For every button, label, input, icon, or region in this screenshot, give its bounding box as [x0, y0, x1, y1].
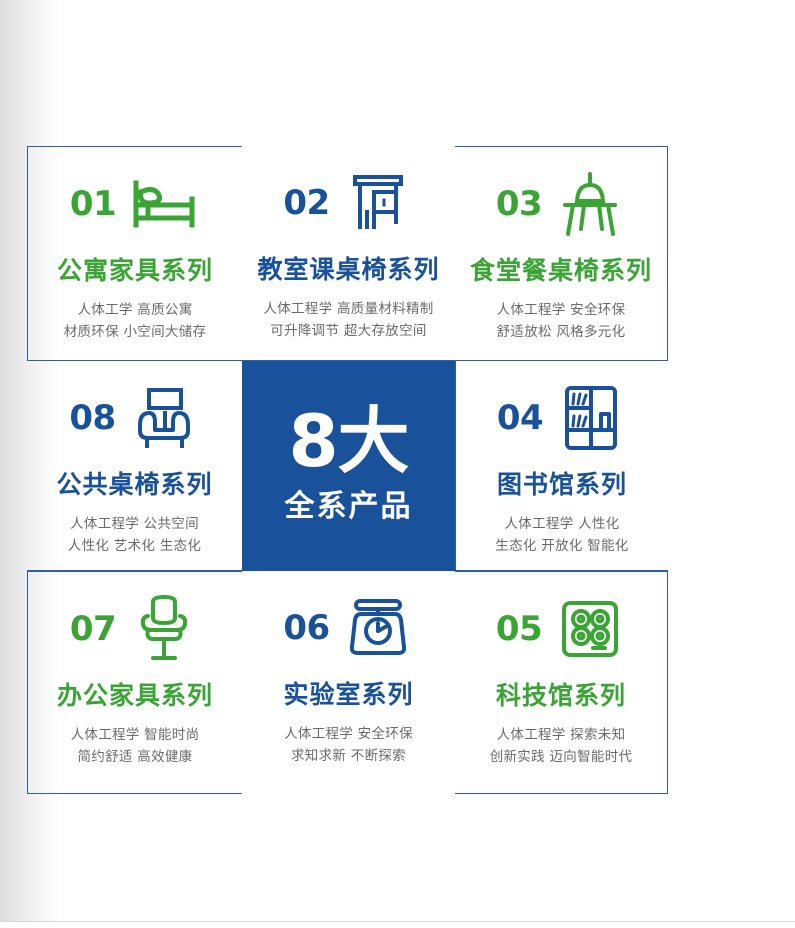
cell-subtext-line1: 人体工程学 探索未知: [490, 724, 633, 746]
cell-header: 07: [28, 586, 242, 672]
cell-subtext-line1: 人体工程学 人性化: [495, 513, 628, 535]
cell-subtext: 人体工程学 安全环保 求知求新 不断探索: [284, 723, 413, 768]
cell-subtext-line2: 创新实践 迈向智能时代: [490, 746, 633, 768]
desk-icon: [342, 167, 414, 239]
product-cell-01[interactable]: 01 公寓家具系列 人体工学 高质公寓 材质环保 小空间大储存: [27, 146, 242, 361]
product-cell-05[interactable]: 05 科技馆系列 人体工程学 探索未知 创新实践 迈向智能时代: [455, 571, 668, 794]
cell-number: 03: [496, 187, 542, 221]
cell-subtext: 人体工程学 公共空间 人性化 艺术化 生态化: [68, 513, 201, 558]
bottom-divider-rule: [0, 921, 795, 922]
cell-title: 科技馆系列: [496, 676, 626, 712]
cell-number: 06: [283, 611, 329, 645]
cell-subtext-line1: 人体工程学 公共空间: [68, 513, 201, 535]
product-series-grid: 01 公寓家具系列 人体工学 高质公寓 材质环保 小空间大储存: [27, 146, 668, 794]
product-cell-06[interactable]: 06 实验室系列 人体工程学 安全环保 求知求新 不断探索: [242, 571, 455, 794]
cell-subtext-line2: 简约舒适 高效健康: [71, 746, 200, 768]
cell-subtext: 人体工程学 智能时尚 简约舒适 高效健康: [71, 724, 200, 769]
cell-header: 06: [242, 585, 455, 671]
product-cell-04[interactable]: 04: [455, 361, 668, 571]
cell-number: 04: [497, 401, 543, 435]
cell-subtext-line2: 材质环保 小空间大储存: [64, 321, 207, 343]
center-headline: 8大: [288, 407, 408, 475]
cell-header: 05: [455, 586, 667, 672]
cell-subtext-line2: 舒适放松 风格多元化: [497, 321, 626, 343]
cell-number: 07: [70, 612, 116, 646]
cell-subtext: 人体工程学 探索未知 创新实践 迈向智能时代: [490, 724, 633, 769]
center-highlight-panel: 8大 全系产品: [242, 361, 455, 571]
cell-subtext-line1: 人体工程学 高质量材料精制: [263, 298, 433, 320]
cell-header: 02: [242, 160, 455, 246]
cell-number: 01: [70, 187, 116, 221]
cooktop-icon: [554, 593, 626, 665]
cell-title: 食堂餐桌椅系列: [470, 251, 652, 287]
cell-title: 教室课桌椅系列: [257, 250, 439, 286]
sofa-icon: [128, 382, 200, 454]
kitchen-scale-icon: [342, 592, 414, 664]
cell-subtext-line2: 人性化 艺术化 生态化: [68, 535, 201, 557]
cell-number: 02: [283, 186, 329, 220]
cell-subtext: 人体工学 高质公寓 材质环保 小空间大储存: [64, 299, 207, 344]
cell-title: 实验室系列: [283, 675, 413, 711]
cell-subtext: 人体工程学 高质量材料精制 可升降调节 超大存放空间: [263, 298, 433, 343]
cell-number: 08: [69, 401, 115, 435]
cell-subtext-line2: 生态化 开放化 智能化: [495, 535, 628, 557]
bookshelf-icon: [555, 382, 627, 454]
cell-subtext: 人体工程学 安全环保 舒适放松 风格多元化: [497, 299, 626, 344]
cell-title: 图书馆系列: [497, 465, 627, 501]
product-cell-07[interactable]: 07 办公家具系列 人体工程学 智能时尚 简约舒适 高效健康: [27, 571, 242, 794]
product-cell-02[interactable]: 02 教室课桌椅系列 人体工程学 高质量材料精制 可升降: [242, 146, 455, 361]
cell-subtext-line1: 人体工程学 安全环保: [497, 299, 626, 321]
dining-table-lamp-icon: [554, 168, 626, 240]
cell-subtext-line1: 人体工程学 安全环保: [284, 723, 413, 745]
product-cell-08[interactable]: 08 公共桌椅系列 人体工程学 公共空间 人性化 艺术化 生态化: [27, 361, 242, 571]
cell-header: 08: [27, 375, 242, 461]
cell-title: 公寓家具系列: [57, 251, 213, 287]
cell-subtext-line1: 人体工学 高质公寓: [64, 299, 207, 321]
cell-subtext-line2: 求知求新 不断探索: [284, 745, 413, 767]
center-subhead: 全系产品: [285, 481, 413, 525]
cell-subtext-line1: 人体工程学 智能时尚: [71, 724, 200, 746]
cell-number: 05: [496, 612, 542, 646]
product-cell-03[interactable]: 03 食堂餐桌椅系列 人体工程学 安全环保 舒适放松: [455, 146, 668, 361]
cell-header: 03: [455, 161, 667, 247]
cell-subtext: 人体工程学 人性化 生态化 开放化 智能化: [495, 513, 628, 558]
bed-icon: [128, 168, 200, 240]
office-chair-icon: [128, 593, 200, 665]
cell-header: 04: [456, 375, 668, 461]
cell-subtext-line2: 可升降调节 超大存放空间: [263, 320, 433, 342]
cell-title: 公共桌椅系列: [56, 465, 212, 501]
cell-header: 01: [28, 161, 242, 247]
cell-title: 办公家具系列: [57, 676, 213, 712]
